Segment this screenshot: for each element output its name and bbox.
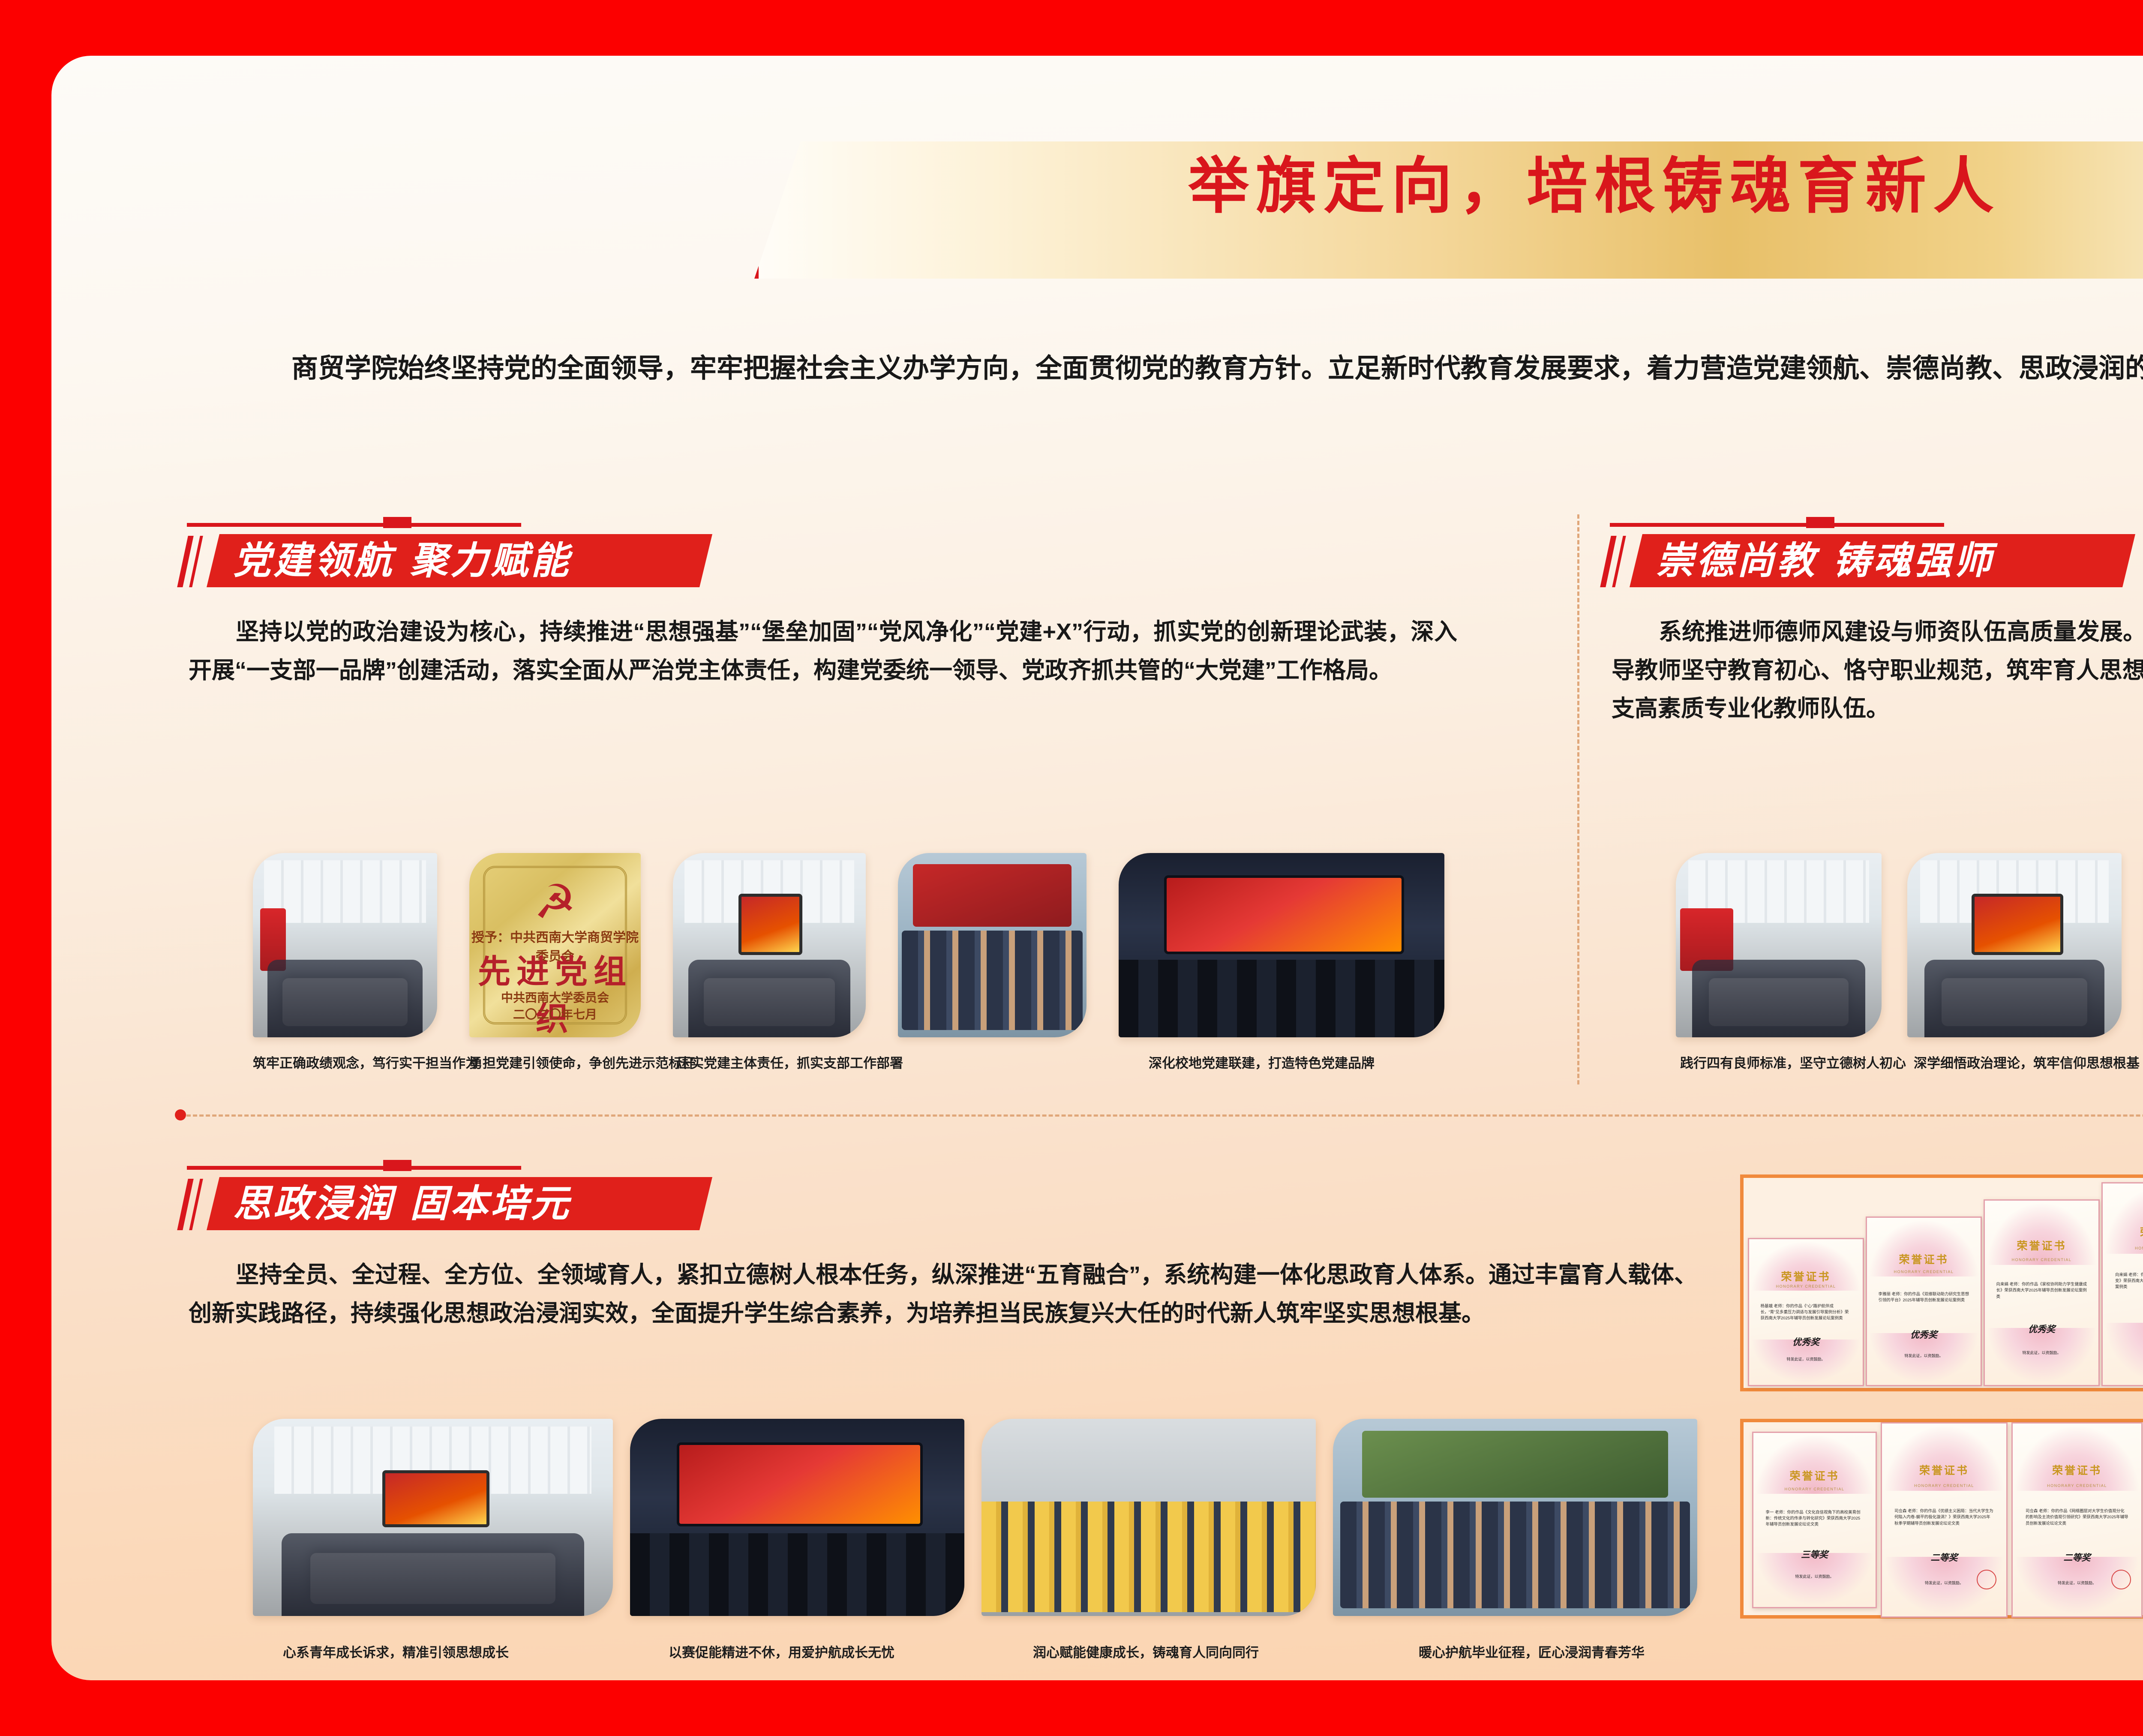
certificate-subtitle: HONORARY CREDENTIAL [2013, 1484, 2141, 1488]
certificate-grade: 三等奖 [1753, 1548, 1876, 1561]
certificate-subtitle: HONORARY CREDENTIAL [1867, 1270, 1981, 1274]
photo-party-meeting[interactable] [253, 853, 437, 1037]
certificate-title: 荣誉证书 [1882, 1462, 2006, 1478]
photo-caption: 践行四有良师标准，坚守立德树人初心 [1680, 1052, 1906, 1072]
certificate-closing: 特发此证，以资鼓励。 [2103, 1347, 2143, 1353]
section-1-title: 党建领航 聚力赋能 [207, 534, 712, 587]
photo-caption: 深学细悟政治理论，筑牢信仰思想根基 [1914, 1052, 2140, 1072]
vertical-divider [1577, 514, 1579, 1084]
certificate-closing: 特发此证，以资鼓励。 [1867, 1353, 1981, 1358]
party-emblem-icon: ☭ [534, 879, 576, 926]
photo-caption: 暖心护航毕业征程，匠心浸润青春芳华 [1419, 1642, 1645, 1661]
section-3-heading: 思政浸润 固本培元 [180, 1166, 746, 1230]
certificate-line: 李雅丽 老师：你的作品《双维联动助力研究生思想引领的平台》2025年辅导员创新发… [1879, 1291, 1969, 1304]
section-2-body: 系统推进师德师风建设与师资队伍高质量发展。严格落实师德师风第一标准，构建教育、考… [1612, 613, 2143, 728]
photo-caption: 勇担党建引领使命，争创先进示范标杆 [469, 1052, 695, 1072]
photo-competition-award[interactable] [630, 1419, 964, 1616]
photo-donation-event[interactable] [898, 853, 1087, 1037]
certificate-title: 荣誉证书 [1753, 1468, 1876, 1483]
certificate-grade: 二等奖 [2013, 1551, 2141, 1564]
photo-graduation-group[interactable] [1333, 1419, 1697, 1616]
photo-yellow-tshirt-group[interactable] [981, 1419, 1316, 1616]
certificate-line: 向来娟 老师：你的作品《家校协同助力学生健康成长》荣获西南大学2025年辅导员创… [1996, 1282, 2087, 1300]
certificate-closing: 特发此证，以资鼓励。 [1753, 1574, 1876, 1579]
certificate[interactable]: 荣誉证书 HONORARY CREDENTIAL 向来娟 老师：你的作品《大学生… [2101, 1182, 2143, 1386]
certificate-closing: 特发此证，以资鼓励。 [1985, 1350, 2098, 1355]
section-3-body: 坚持全员、全过程、全方位、全领域育人，紧扣立德树人根本任务，纵深推进“五育融合”… [189, 1256, 1697, 1333]
heading-plate: 党建领航 聚力赋能 [207, 534, 712, 587]
certificate-subtitle: HONORARY CREDENTIAL [1749, 1284, 1863, 1288]
title-banner: 举旗定向，培根铸魂育新人 [754, 141, 2143, 279]
section-2-heading: 崇德尚教 铸魂强师 [1603, 523, 2143, 587]
heading-plate: 崇德尚教 铸魂强师 [1630, 534, 2135, 587]
heading-rule [187, 523, 521, 527]
heading-rule [1610, 523, 1944, 527]
certificate[interactable]: 荣誉证书 HONORARY CREDENTIAL 杨基娥 老师：你的作品《“心”… [1748, 1238, 1864, 1386]
certificate-subtitle: HONORARY CREDENTIAL [2103, 1246, 2143, 1250]
certificate-closing: 特发此证，以资鼓励。 [1749, 1356, 1863, 1362]
section-1-heading: 党建领航 聚力赋能 [180, 523, 746, 587]
photo-teacher-standard[interactable] [1676, 853, 1882, 1037]
certificate-line: 司佥森 老师：你的作品《优绩主义困局：当代大学生为何陷入内卷-躺平的极化漩涡？》… [1894, 1508, 1994, 1527]
heading-tick [1806, 517, 1834, 528]
certificate-title: 荣誉证书 [1867, 1251, 1981, 1267]
certificate[interactable]: 荣誉证书 HONORARY CREDENTIAL 李一 老师：你的作品《文化自信… [1752, 1432, 1877, 1608]
certificate-line: 司佥森 老师：你的作品《网络圈层对大学生价值观分化的影响及主流价值观引领研究》荣… [2026, 1508, 2128, 1527]
photo-advanced-party-plaque[interactable]: ☭ 授予：中共西南大学商贸学院委员会 先进党组织 中共西南大学委员会 二〇二〇年… [469, 853, 641, 1037]
certificate-grade: 优秀奖 [1985, 1322, 2098, 1335]
photo-caption: 深化校地党建联建，打造特色党建品牌 [1149, 1052, 1375, 1072]
photo-classroom-talk[interactable] [253, 1419, 613, 1616]
certificate[interactable]: 荣誉证书 HONORARY CREDENTIAL 李雅丽 老师：你的作品《双维联… [1866, 1216, 1982, 1386]
certificate-title: 荣誉证书 [2013, 1462, 2141, 1478]
photo-branch-work[interactable] [673, 853, 866, 1037]
photo-caption: 筑牢正确政绩观念，笃行实干担当作为 [253, 1052, 479, 1072]
certificate-line: 向来娟 老师：你的作品《大学生的诚信教败与成长蜕变》荣获西南大学2025年秋季学… [2115, 1272, 2143, 1291]
certificate[interactable]: 荣誉证书 HONORARY CREDENTIAL 向来娟 老师：你的作品《家校协… [1984, 1199, 2100, 1386]
certificate-subtitle: HONORARY CREDENTIAL [1985, 1258, 2098, 1262]
section-1-body: 坚持以党的政治建设为核心，持续推进“思想强基”“堡垒加固”“党风净化”“党建+X… [189, 613, 1457, 690]
horizontal-divider [180, 1114, 2143, 1117]
certificate-line: 李一 老师：你的作品《文化自信视角下的高校美育创新：传统文化的传承与转化研究》荣… [1766, 1510, 1864, 1528]
certificate[interactable]: 荣誉证书 HONORARY CREDENTIAL 司佥森 老师：你的作品《网络圈… [2011, 1422, 2143, 1618]
certificate-subtitle: HONORARY CREDENTIAL [1753, 1487, 1876, 1491]
certificate-row-bottom: 荣誉证书 HONORARY CREDENTIAL 李一 老师：你的作品《文化自信… [1740, 1419, 2143, 1619]
certificate-grade: 优秀奖 [1749, 1335, 1863, 1348]
certificate-title: 荣誉证书 [1749, 1268, 1863, 1284]
certificate-seal [1977, 1570, 1996, 1589]
intro-paragraph: 商贸学院始终坚持党的全面领导，牢牢把握社会主义办学方向，全面贯彻党的教育方针。立… [236, 347, 2143, 390]
divider-dot-left [175, 1109, 186, 1120]
certificate-grade: 优秀奖 [1867, 1328, 1981, 1341]
photo-caption: 以赛促能精进不休，用爱护航成长无忧 [669, 1642, 894, 1661]
plaque-date: 二〇二〇年七月 [469, 1005, 641, 1024]
poster-board: 举旗定向，培根铸魂育新人 商贸学院始终坚持党的全面领导，牢牢把握社会主义办学方向… [51, 56, 2143, 1680]
certificate-grade: 优秀奖 [2103, 1316, 2143, 1329]
photo-political-theory-study[interactable] [1907, 853, 2122, 1037]
section-3-title: 思政浸润 固本培元 [207, 1177, 712, 1230]
heading-tick [383, 517, 411, 528]
photo-caption: 压实党建主体责任，抓实支部工作部署 [677, 1052, 903, 1072]
photo-caption: 心系青年成长诉求，精准引领思想成长 [283, 1642, 509, 1661]
certificate-title: 荣誉证书 [2103, 1224, 2143, 1239]
certificate-title: 荣誉证书 [1985, 1237, 2098, 1253]
certificate-line: 杨基娥 老师：你的作品《“心”路护航伴成长，“育”见多重压力调适与发展引导案例分… [1761, 1304, 1852, 1322]
photo-caption: 润心赋能健康成长，铸魂育人同向同行 [1033, 1642, 1259, 1661]
certificate[interactable]: 荣誉证书 HONORARY CREDENTIAL 司佥森 老师：你的作品《优绩主… [1881, 1422, 2008, 1618]
certificate-grade: 二等奖 [1882, 1551, 2006, 1564]
section-2-title: 崇德尚教 铸魂强师 [1630, 534, 2135, 587]
certificate-subtitle: HONORARY CREDENTIAL [1882, 1484, 2006, 1488]
heading-tick [383, 1160, 411, 1171]
heading-rule [187, 1166, 521, 1170]
certificate-seal [2111, 1570, 2131, 1589]
certificate-row-top: 荣誉证书 HONORARY CREDENTIAL 杨基娥 老师：你的作品《“心”… [1740, 1174, 2143, 1391]
photo-joint-party-building[interactable] [1119, 853, 1444, 1037]
page-title: 举旗定向，培根铸魂育新人 [754, 156, 2143, 217]
heading-plate: 思政浸润 固本培元 [207, 1177, 712, 1230]
